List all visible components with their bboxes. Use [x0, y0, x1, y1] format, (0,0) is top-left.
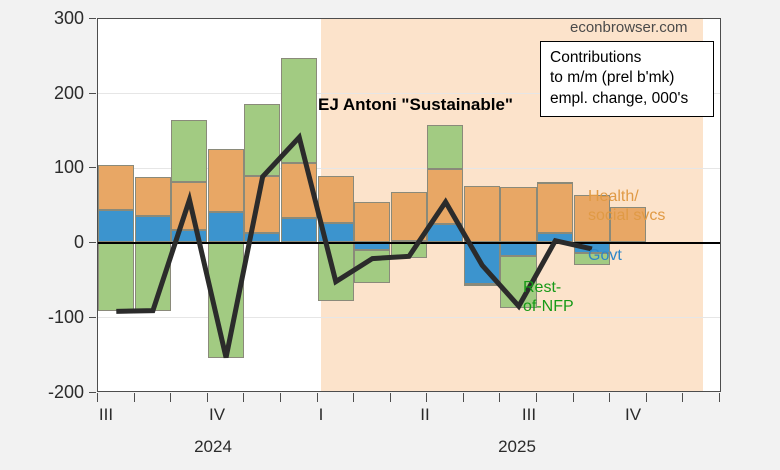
y-tick-label-neg200: -200	[26, 382, 84, 403]
watermark-econbrowser: econbrowser.com	[570, 19, 688, 36]
legend-title-box: Contributions to m/m (prel b'mk) empl. c…	[540, 41, 714, 117]
x-tick-mark	[682, 393, 683, 402]
y-tick-label-200: 200	[26, 83, 84, 104]
x-year-label-2024: 2024	[173, 437, 253, 457]
y-tick-label-100: 100	[26, 157, 84, 178]
y-tick-mark	[89, 392, 96, 393]
x-tick-mark	[280, 393, 281, 402]
x-tick-mark	[390, 393, 391, 402]
x-tick-mark	[463, 393, 464, 402]
chart-root: 300 200 100 0 -100 -200 III IV I II III …	[0, 0, 780, 470]
x-label-q1-2025: I	[296, 405, 346, 425]
y-tick-mark	[89, 93, 96, 94]
x-label-q2-2025: II	[400, 405, 450, 425]
x-tick-mark	[426, 393, 427, 402]
series-key-rest-line1: Rest-	[523, 278, 574, 297]
y-tick-mark	[89, 167, 96, 168]
x-label-q4-2024: IV	[192, 405, 242, 425]
x-tick-mark	[317, 393, 318, 402]
x-tick-mark	[243, 393, 244, 402]
x-tick-mark	[499, 393, 500, 402]
y-tick-label-300: 300	[26, 8, 84, 29]
x-tick-mark	[609, 393, 610, 402]
y-tick-label-0: 0	[26, 232, 84, 253]
x-tick-mark	[353, 393, 354, 402]
series-key-health-line1: Health/	[588, 187, 665, 206]
y-tick-mark	[89, 317, 96, 318]
x-label-q3-2024: III	[81, 405, 131, 425]
y-tick-label-neg100: -100	[26, 307, 84, 328]
annotation-ej-antoni: EJ Antoni "Sustainable"	[318, 95, 513, 115]
series-key-health: Health/ social svcs	[588, 187, 665, 225]
series-key-rest-line2: of-NFP	[523, 297, 574, 316]
legend-line-3: empl. change, 000's	[550, 89, 704, 109]
x-tick-mark	[97, 393, 98, 402]
legend-line-2: to m/m (prel b'mk)	[550, 68, 704, 88]
x-tick-mark	[646, 393, 647, 402]
x-tick-mark	[536, 393, 537, 402]
x-tick-mark	[134, 393, 135, 402]
y-tick-mark	[89, 18, 96, 19]
y-tick-mark	[89, 242, 96, 243]
x-label-q3-2025: III	[504, 405, 554, 425]
x-label-q4-2025: IV	[608, 405, 658, 425]
x-tick-mark	[170, 393, 171, 402]
x-tick-mark	[207, 393, 208, 402]
x-tick-mark	[573, 393, 574, 402]
series-key-govt: Govt	[588, 246, 622, 265]
x-tick-mark	[719, 393, 720, 402]
x-year-label-2025: 2025	[477, 437, 557, 457]
series-key-rest: Rest- of-NFP	[523, 278, 574, 316]
series-key-health-line2: social svcs	[588, 206, 665, 225]
legend-line-1: Contributions	[550, 48, 704, 68]
